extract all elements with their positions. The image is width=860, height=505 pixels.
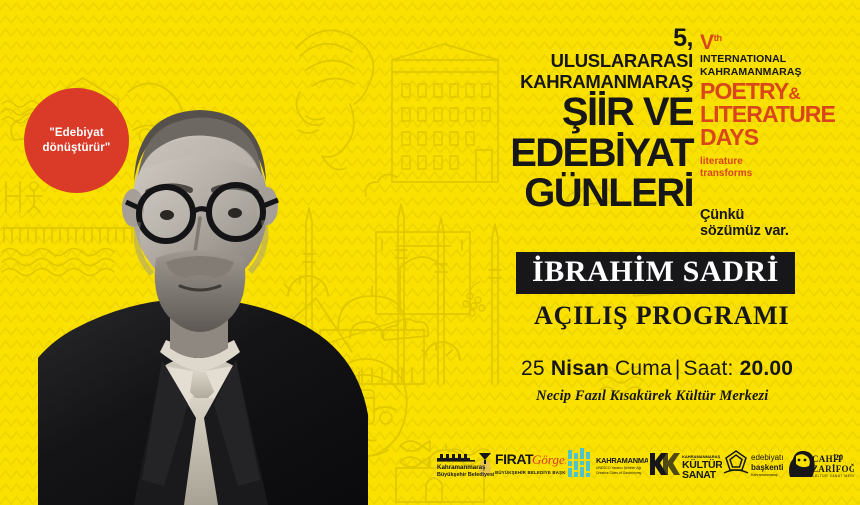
english-tagline: literature transforms: [700, 156, 860, 181]
english-big-line-2: LITERATURE: [700, 103, 860, 125]
svg-text:SANAT: SANAT: [682, 469, 717, 481]
english-title-block: Vth INTERNATIONAL KAHRAMANMARAŞ POETRY& …: [700, 32, 860, 240]
svg-text:Kahramanmaraş: Kahramanmaraş: [437, 464, 486, 471]
svg-text:Kahramanmaraş: Kahramanmaraş: [751, 473, 778, 477]
time-label: Saat:: [684, 357, 734, 380]
svg-text:KAHRAMANMARAŞ: KAHRAMANMARAŞ: [596, 456, 648, 465]
svg-text:BÜYÜKŞEHİR BELEDİYE BAŞKANI: BÜYÜKŞEHİR BELEDİYE BAŞKANI: [495, 470, 566, 475]
program-title: AÇILIŞ PROGRAMI: [534, 303, 789, 329]
event-month: Nisan: [551, 357, 609, 380]
edition-number: 5,: [503, 26, 693, 51]
english-ordinal: Vth: [700, 32, 860, 53]
english-poetry-word: POETRY: [700, 78, 788, 104]
logo-firat-gorgel: FIRAT Görgel BÜYÜKŞEHİR BELEDİYE BAŞKANI: [494, 447, 566, 481]
turkish-line-2: KAHRAMANMARAŞ: [503, 72, 693, 93]
turkish-line-1: ULUSLARARASI: [503, 51, 693, 72]
event-venue: Necip Fazıl Kısakürek Kültür Merkezi: [536, 388, 768, 405]
turkish-big-line-3: GÜNLERİ: [503, 174, 693, 213]
svg-text:20: 20: [835, 453, 843, 462]
event-weekday: Cuma: [615, 357, 672, 380]
logo-kks-kultur-sanat: KAHRAMANMARAŞ KÜLTÜR SANAT: [648, 447, 722, 481]
svg-text:Görgel: Görgel: [532, 452, 566, 467]
logo-edebiyatin-baskenti: edebiyatın başkenti Kahramanmaraş: [722, 447, 784, 481]
english-ordinal-suffix: th: [714, 33, 722, 44]
svg-text:UNESCO Yaratıcı Şehirler Ağı: UNESCO Yaratıcı Şehirler Ağı: [596, 466, 641, 470]
date-separator: |: [672, 357, 684, 380]
time-value: 20.00: [740, 357, 794, 380]
turkish-big-line-2: EDEBİYAT: [503, 134, 693, 173]
english-big-line-1: POETRY&: [700, 80, 860, 102]
english-big-line-3: DAYS: [700, 126, 860, 148]
event-date-line: 25 Nisan Cuma|Saat: 20.00: [521, 357, 793, 380]
svg-text:KÜLTÜR SANAT MERKEZİ: KÜLTÜR SANAT MERKEZİ: [812, 473, 854, 478]
english-ordinal-numeral: V: [700, 31, 714, 54]
svg-text:başkenti: başkenti: [751, 463, 783, 472]
turkish-title-block: 5, ULUSLARARASI KAHRAMANMARAŞ ŞİİR VE ED…: [503, 26, 693, 213]
logo-unesco-kahramanmaras: KAHRAMANMARAŞ UNESCO Yaratıcı Şehirler A…: [566, 447, 648, 481]
turkish-motto: Çünkü sözümüz var.: [700, 207, 860, 241]
svg-text:Creative Cities of Gastronomy: Creative Cities of Gastronomy: [596, 471, 642, 475]
event-day: 25: [521, 357, 545, 380]
poster-canvas: "Edebiyat dönüştürür" 5, ULUSLARARASI KA…: [0, 0, 860, 505]
turkish-big-line-1: ŞİİR VE: [503, 93, 693, 132]
english-line-1: INTERNATIONAL: [700, 53, 860, 66]
svg-text:Büyükşehir Belediyesi: Büyükşehir Belediyesi: [437, 472, 494, 478]
logo-kahramanmaras-buyuksehir-belediyesi: Kahramanmaraş Büyükşehir Belediyesi: [432, 447, 494, 481]
speaker-name: İBRAHİM SADRİ: [532, 257, 779, 287]
logo-cahit-zarifoglu: CAHİT 20 ZARİFOĞLU KÜLTÜR SANAT MERKEZİ: [784, 447, 854, 481]
svg-text:ZARİFOĞLU: ZARİFOĞLU: [812, 464, 854, 474]
svg-text:edebiyatın: edebiyatın: [751, 453, 784, 462]
speaker-name-box: İBRAHİM SADRİ: [516, 252, 795, 294]
english-ampersand: &: [788, 84, 800, 103]
sponsor-logo-strip: Kahramanmaraş Büyükşehir Belediyesi FIRA…: [432, 443, 852, 485]
svg-text:FIRAT: FIRAT: [495, 451, 534, 467]
